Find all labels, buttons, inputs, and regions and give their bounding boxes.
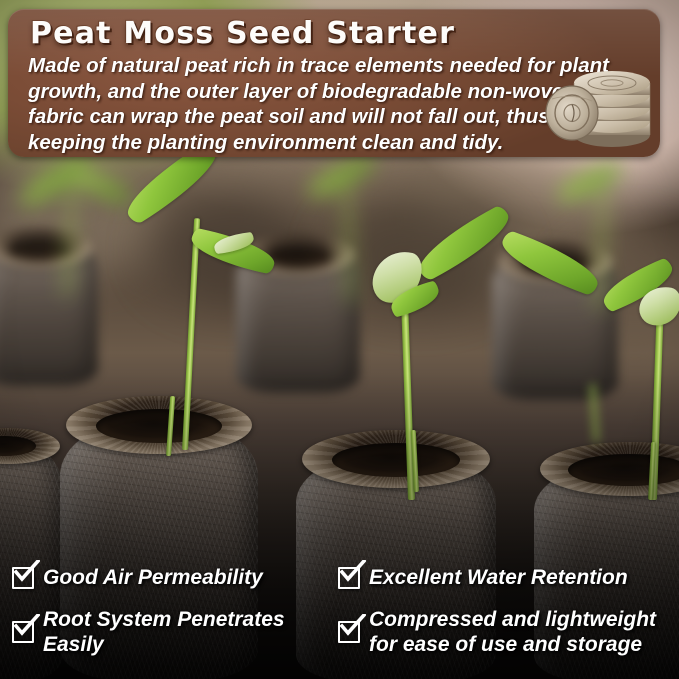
feature-label: Excellent Water Retention [369,565,628,590]
feature-item-excellent-water-retention: Excellent Water Retention [338,565,628,590]
feature-label-line: Compressed and lightweight [369,607,656,632]
feature-label: Good Air Permeability [43,565,263,590]
feature-label-line: Root System Penetrates [43,607,285,632]
feature-item-compressed-and-lightweight: Compressed and lightweight for ease of u… [338,607,656,657]
feature-label: Root System Penetrates Easily [43,607,285,657]
feature-item-root-system-penetrates-easily: Root System Penetrates Easily [12,607,285,657]
feature-label: Compressed and lightweight for ease of u… [369,607,656,657]
peat-pellet-stack-icon [538,63,654,151]
checkbox-checked-icon [12,621,34,643]
checkbox-checked-icon [338,567,360,589]
feature-label-line: Easily [43,632,285,657]
feature-label-line: for ease of use and storage [369,632,656,657]
checkbox-checked-icon [338,621,360,643]
checkbox-checked-icon [12,567,34,589]
feature-list: Good Air Permeability Excellent Water Re… [0,555,679,679]
page-title: Peat Moss Seed Starter [30,16,455,51]
feature-item-good-air-permeability: Good Air Permeability [12,565,263,590]
feature-label-line: Excellent Water Retention [369,565,628,590]
header-banner: Peat Moss Seed Starter Made of natural p… [8,9,660,157]
feature-label-line: Good Air Permeability [43,565,263,590]
